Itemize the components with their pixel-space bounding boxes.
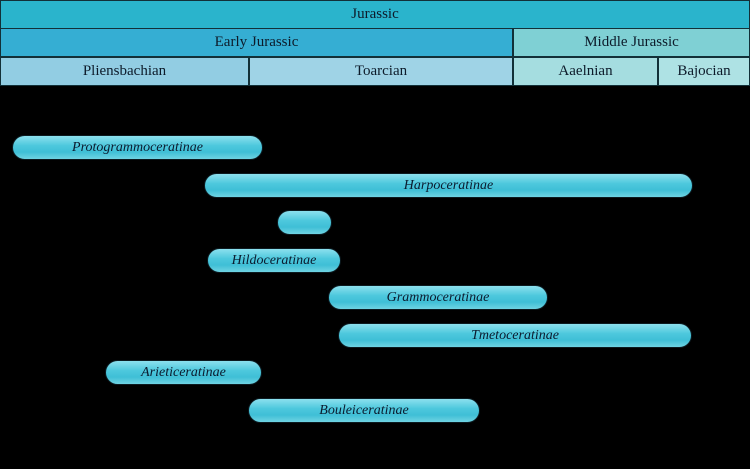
range-bar-label: Grammoceratinae (379, 291, 498, 305)
range-bar-unlabeled[interactable] (277, 210, 332, 235)
timescale-cell-jurassic[interactable]: Jurassic (0, 0, 750, 29)
timescale-cell-toarcian[interactable]: Toarcian (249, 57, 513, 86)
range-bar-label: Harpoceratinae (396, 179, 501, 193)
range-bar-protogrammoceratinae[interactable]: Protogrammoceratinae (12, 135, 263, 160)
range-bar-label: Bouleiceratinae (311, 404, 416, 418)
range-chart-canvas: Jurassic Early Jurassic Middle Jurassic … (0, 0, 750, 469)
timescale-cell-middle-jurassic[interactable]: Middle Jurassic (513, 28, 750, 57)
range-bar-grammoceratinae[interactable]: Grammoceratinae (328, 285, 548, 310)
range-bar-label: Arieticeratinae (133, 366, 234, 380)
range-bar-label: Tmetoceratinae (463, 329, 567, 343)
range-bar-tmetoceratinae[interactable]: Tmetoceratinae (338, 323, 692, 348)
range-bar-hildoceratinae[interactable]: Hildoceratinae (207, 248, 341, 273)
geologic-timescale-header: Jurassic Early Jurassic Middle Jurassic … (0, 0, 750, 86)
timescale-row-epoch: Early Jurassic Middle Jurassic (0, 28, 750, 57)
timescale-row-stage: Pliensbachian Toarcian Aaelnian Bajocian (0, 57, 750, 86)
timescale-cell-pliensbachian[interactable]: Pliensbachian (0, 57, 249, 86)
range-bar-arieticeratinae[interactable]: Arieticeratinae (105, 360, 262, 385)
timescale-cell-bajocian[interactable]: Bajocian (658, 57, 750, 86)
timescale-cell-early-jurassic[interactable]: Early Jurassic (0, 28, 513, 57)
timescale-cell-aaelnian[interactable]: Aaelnian (513, 57, 658, 86)
range-bar-label: Protogrammoceratinae (64, 141, 211, 155)
range-bar-harpoceratinae[interactable]: Harpoceratinae (204, 173, 693, 198)
timescale-row-period: Jurassic (0, 0, 750, 29)
range-bar-label: Hildoceratinae (224, 254, 325, 268)
range-bar-bouleiceratinae[interactable]: Bouleiceratinae (248, 398, 480, 423)
